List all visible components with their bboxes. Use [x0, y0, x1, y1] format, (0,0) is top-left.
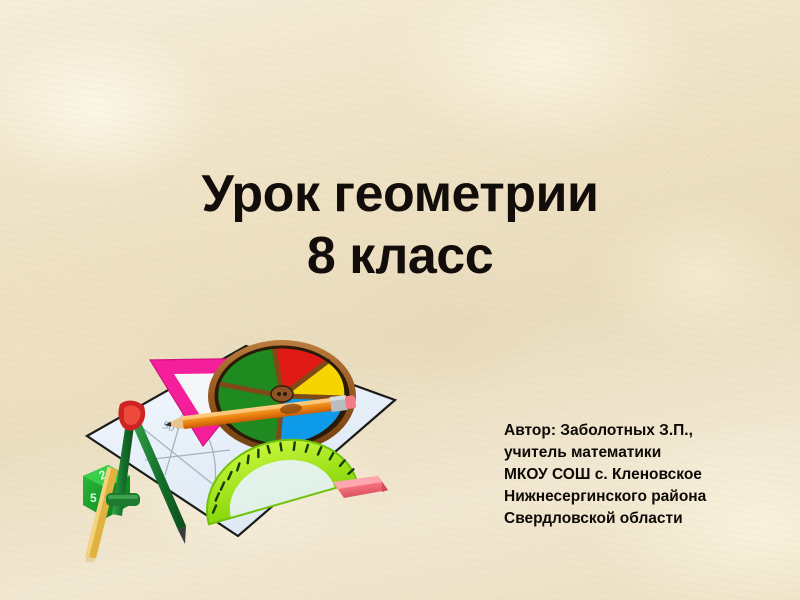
author-line-3: МКОУ СОШ с. Кленовское [504, 464, 794, 486]
author-line-1: Автор: Заболотных З.П., [504, 420, 794, 442]
title-line-1: Урок геометрии [0, 163, 800, 225]
author-line-2: учитель математики [504, 442, 794, 464]
color-wheel [208, 340, 356, 452]
title-line-2: 8 класс [0, 225, 800, 287]
page-title: Урок геометрии 8 класс [0, 163, 800, 287]
slide-canvas: 4+5=9 a/b=c 90° 2 5 6 [0, 0, 800, 600]
geometry-tools-illustration: 4+5=9 a/b=c 90° 2 5 6 [70, 300, 430, 562]
author-line-5: Свердловской области [504, 508, 794, 530]
svg-text:5: 5 [90, 491, 97, 505]
author-credit: Автор: Заболотных З.П., учитель математи… [504, 420, 794, 530]
author-line-4: Нижнесергинского района [504, 486, 794, 508]
